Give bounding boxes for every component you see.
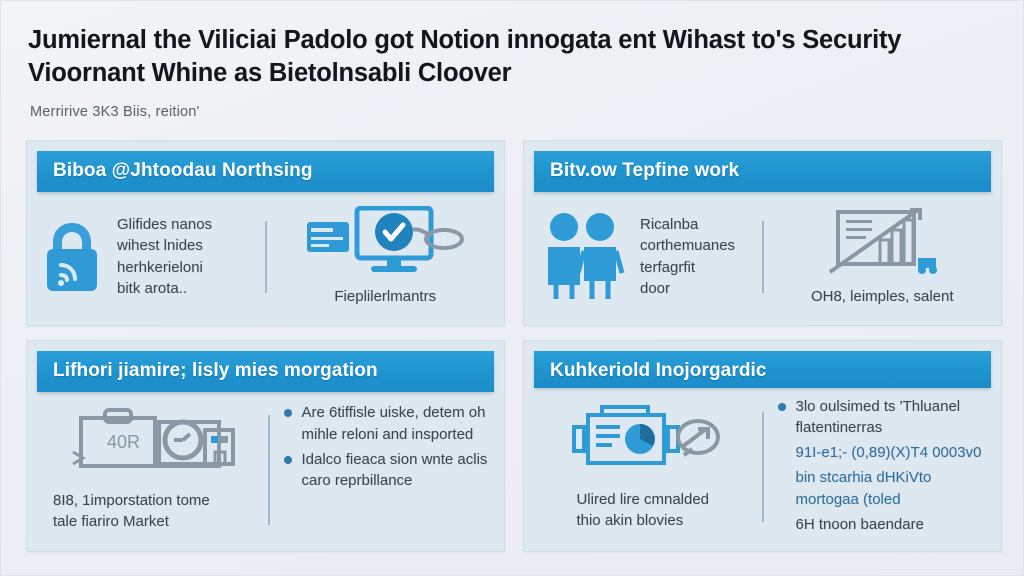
two-people-icon: [538, 211, 626, 303]
panel-bottom-right-body: Ulired lire cmnalded thio akin blovies 3…: [524, 388, 1001, 552]
panel-top-left-divider: [265, 221, 267, 293]
panel-bottom-left-body: 40R 8I8, 1imporstation tome tal: [27, 392, 504, 551]
list-item: bin stcarhia dHKiVto mortogaa (toled: [778, 467, 988, 510]
panel-bottom-left-header: Lifhori jiamire; lisly mies morgation: [37, 351, 494, 392]
panel-bottom-right-caption: Ulired lire cmnalded thio akin blovies: [576, 489, 709, 531]
list-item: Are 6tiffisle uiske, detem oh mihle relo…: [284, 402, 491, 445]
panel-top-right-caption: OH8, leimples, salent: [811, 286, 954, 307]
panel-bottom-right-header: Kuhkeriold Inojorgardic: [534, 351, 991, 387]
list-item: 3lo oulsimed ts 'Thluanel flatentinerras: [778, 396, 988, 439]
poster-header: Jumiernal the Viliciai Padolo got Notion…: [26, 20, 1002, 122]
panel-bottom-right: Kuhkeriold Inojorgardic: [523, 340, 1002, 552]
list-item: 91I-e1;- (0,89)(X)T4 0003v0: [778, 442, 988, 463]
panel-top-left-text: Glifides nanos wihest lnides herhkerielo…: [117, 214, 212, 299]
panel-top-right-text: Ricalnba corthemuanes terfagrfit door: [640, 214, 735, 299]
panel-top-right-item-2: OH8, leimples, salent: [778, 198, 988, 315]
panel-bottom-left-divider: [268, 415, 270, 525]
svg-text:40R: 40R: [107, 432, 140, 452]
panel-top-left-body: Glifides nanos wihest lnides herhkerielo…: [27, 192, 504, 325]
panel-top-right-body: Ricalnba corthemuanes terfagrfit door: [524, 192, 1001, 325]
panel-top-left-item-1: Glifides nanos wihest lnides herhkerielo…: [41, 198, 251, 315]
panel-bottom-right-item-1: Ulired lire cmnalded thio akin blovies: [538, 394, 748, 542]
panel-grid: Biboa @Jhtoodau Northsing Glifides nanos…: [26, 140, 1002, 552]
panel-bottom-left-item-2: Are 6tiffisle uiske, detem oh mihle relo…: [284, 394, 491, 545]
page-subtitle: Merririve 3K3 Biis, reition': [30, 104, 1002, 120]
infographic-poster: Jumiernal the Viliciai Padolo got Notion…: [0, 0, 1024, 576]
panel-top-left: Biboa @Jhtoodau Northsing Glifides nanos…: [26, 140, 505, 326]
panel-top-left-caption: Fieplilerlmantrs: [334, 286, 436, 307]
panel-top-left-header: Biboa @Jhtoodau Northsing: [37, 151, 494, 192]
panel-bottom-right-divider: [762, 412, 764, 522]
page-title: Jumiernal the Viliciai Padolo got Notion…: [28, 24, 998, 90]
panel-top-right-divider: [762, 221, 764, 293]
panel-bottom-left-item-1: 40R 8I8, 1imporstation tome tal: [41, 398, 254, 541]
list-item: Idalco fieaca sion wnte aclis caro reprb…: [284, 449, 491, 492]
panel-bottom-left-caption: 8I8, 1imporstation tome tale fiariro Mar…: [47, 490, 210, 532]
panel-bottom-right-bullets: 3lo oulsimed ts 'Thluanel flatentinerras…: [778, 396, 988, 540]
panel-top-right-item-1: Ricalnba corthemuanes terfagrfit door: [538, 198, 748, 315]
panel-top-right-header: Bitv.ow Tepfine work: [534, 151, 991, 192]
panel-bottom-right-item-2: 3lo oulsimed ts 'Thluanel flatentinerras…: [778, 392, 988, 544]
truck-clipboard-icon: 40R: [55, 408, 245, 484]
panel-top-right: Bitv.ow Tepfine work Ricalnba corth: [523, 140, 1002, 326]
panel-top-left-item-2: Fieplilerlmantrs: [281, 198, 491, 315]
padlock-icon: [41, 221, 103, 293]
monitor-check-icon: [305, 206, 465, 280]
panel-bottom-left-bullets: Are 6tiffisle uiske, detem oh mihle relo…: [284, 402, 491, 495]
list-item: 6H tnoon baendare: [778, 514, 988, 535]
growth-chart-icon: [822, 206, 942, 280]
panel-bottom-left: Lifhori jiamire; lisly mies morgation 40…: [26, 340, 505, 552]
dashboard-chart-icon: [558, 403, 728, 483]
